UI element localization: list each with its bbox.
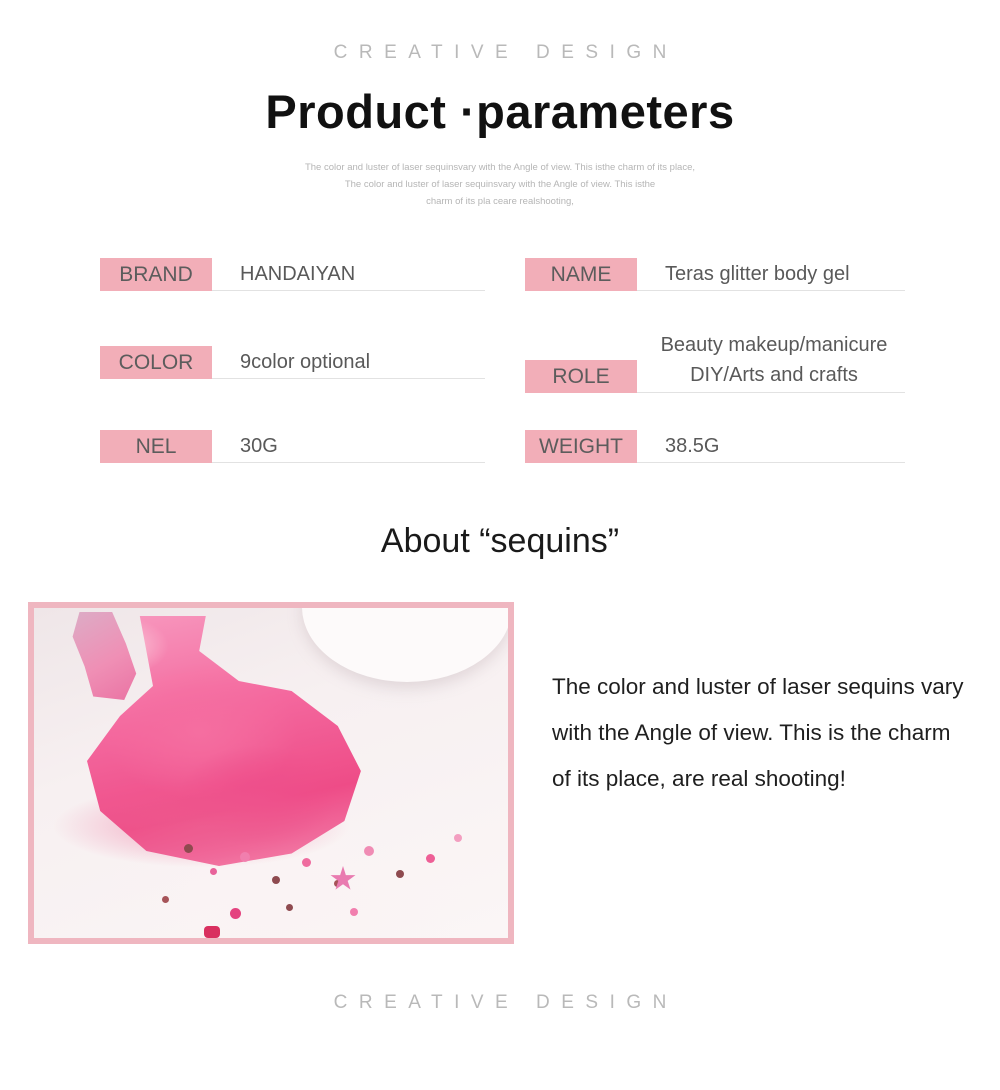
parameter-label-nel: NEL: [100, 430, 212, 463]
photo-bowl-shape: [302, 608, 508, 682]
parameter-value-role: Beauty makeup/manicure DIY/Arts and craf…: [637, 330, 905, 393]
parameter-label-color: COLOR: [100, 346, 212, 379]
sparkle-dot: [302, 858, 311, 867]
product-photo: [34, 608, 508, 938]
sparkle-dot: [210, 868, 217, 875]
header-subtitle: The color and luster of laser sequinsvar…: [265, 159, 735, 210]
header-eyebrow: CREATIVE DESIGN: [0, 0, 1000, 64]
parameter-value-weight: 38.5G: [637, 430, 905, 463]
sparkle-dot: [426, 854, 435, 863]
sparkle-dot: [162, 896, 169, 903]
sparkle-dot: [240, 852, 250, 862]
parameter-value-brand: HANDAIYAN: [212, 258, 485, 291]
photo-gel-drip: [64, 612, 150, 700]
sparkle-dot: [364, 846, 374, 856]
parameter-row-brand: BRAND HANDAIYAN: [100, 258, 485, 291]
sparkle-dot: [204, 926, 220, 938]
sparkle-dot: [286, 904, 293, 911]
parameter-label-name: NAME: [525, 258, 637, 291]
parameter-value-role-line-2: DIY/Arts and crafts: [690, 360, 858, 390]
about-section: The color and luster of laser sequins va…: [28, 602, 972, 944]
parameter-row-weight: WEIGHT 38.5G: [525, 430, 905, 463]
sparkle-dot: [396, 870, 404, 878]
parameter-value-name: Teras glitter body gel: [637, 258, 905, 291]
sparkle-dot: [230, 908, 241, 919]
sparkle-dot: [350, 908, 358, 916]
page-title: Product ·parameters: [0, 84, 1000, 139]
parameter-row-role: ROLE Beauty makeup/manicure DIY/Arts and…: [525, 330, 905, 393]
parameter-row-color: COLOR 9color optional: [100, 346, 485, 379]
parameter-label-role: ROLE: [525, 360, 637, 393]
parameter-value-role-line-1: Beauty makeup/manicure: [661, 330, 888, 360]
subtitle-line-1: The color and luster of laser sequinsvar…: [265, 159, 735, 176]
parameter-label-brand: BRAND: [100, 258, 212, 291]
parameter-row-name: NAME Teras glitter body gel: [525, 258, 905, 291]
product-photo-frame: [28, 602, 514, 944]
sparkle-dot: [184, 844, 193, 853]
about-section-title: About “sequins”: [0, 522, 1000, 561]
parameter-row-nel: NEL 30G: [100, 430, 485, 463]
sparkle-dot: [454, 834, 462, 842]
about-paragraph: The color and luster of laser sequins va…: [552, 602, 972, 802]
parameter-label-weight: WEIGHT: [525, 430, 637, 463]
subtitle-line-2: The color and luster of laser sequinsvar…: [265, 176, 735, 193]
parameter-value-nel: 30G: [212, 430, 485, 463]
subtitle-line-3: charm of its pla ceare realshooting,: [265, 193, 735, 210]
footer-eyebrow: CREATIVE DESIGN: [0, 992, 1000, 1014]
photo-glitter-spread: [50, 778, 470, 898]
parameter-value-color: 9color optional: [212, 346, 485, 379]
sparkle-dot: [272, 876, 280, 884]
